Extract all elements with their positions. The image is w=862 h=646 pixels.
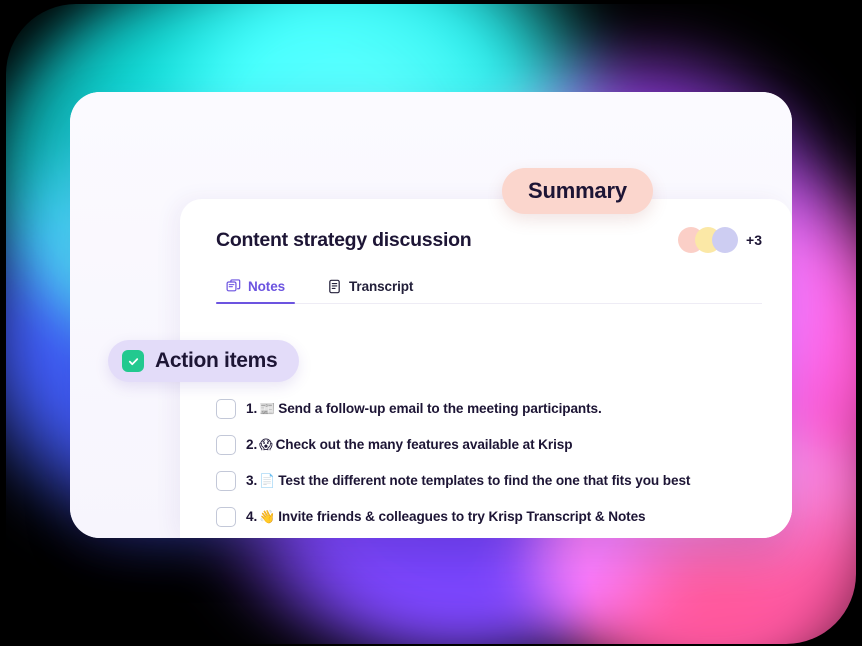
item-label: Check out the many features available at…	[276, 437, 573, 452]
sticky-notes-icon	[226, 279, 241, 294]
page-icon: 📄	[259, 474, 275, 489]
page-title: Content strategy discussion	[216, 229, 471, 252]
item-number: 1.	[246, 401, 257, 416]
list-item[interactable]: 2.😱Check out the many features available…	[216, 427, 776, 463]
tab-bar: Notes Transcript	[216, 277, 762, 304]
item-number: 2.	[246, 437, 257, 452]
screenshot-stage: Content strategy discussion +3	[0, 0, 862, 646]
item-number: 3.	[246, 473, 257, 488]
item-label: Test the different note templates to fin…	[278, 473, 690, 488]
item-label: Send a follow-up email to the meeting pa…	[278, 401, 601, 416]
item-text: 4.👋Invite friends & colleagues to try Kr…	[246, 509, 646, 525]
screaming-face-icon: 😱	[259, 438, 272, 453]
item-checkbox[interactable]	[216, 507, 236, 527]
summary-badge[interactable]: Summary	[502, 168, 653, 214]
tab-transcript[interactable]: Transcript	[317, 277, 423, 303]
meeting-notes-card: Content strategy discussion +3	[70, 92, 792, 538]
action-items-badge-label: Action items	[155, 349, 277, 373]
participants-more-count: +3	[746, 232, 762, 248]
item-checkbox[interactable]	[216, 435, 236, 455]
tab-notes-label: Notes	[248, 279, 285, 294]
item-text: 2.😱Check out the many features available…	[246, 437, 572, 453]
avatar-group[interactable]	[678, 227, 738, 253]
avatar[interactable]	[712, 227, 738, 253]
document-list-icon	[327, 279, 342, 294]
checked-checkbox-icon	[122, 350, 144, 372]
tab-transcript-label: Transcript	[349, 279, 413, 294]
tab-notes[interactable]: Notes	[216, 277, 295, 303]
item-checkbox[interactable]	[216, 399, 236, 419]
action-items-list: 1.📰Send a follow-up email to the meeting…	[216, 391, 776, 535]
list-item[interactable]: 3.📄Test the different note templates to …	[216, 463, 776, 499]
item-text: 3.📄Test the different note templates to …	[246, 473, 690, 489]
item-label: Invite friends & colleagues to try Krisp…	[278, 509, 645, 524]
summary-badge-label: Summary	[528, 178, 627, 204]
item-checkbox[interactable]	[216, 471, 236, 491]
participants[interactable]: +3	[678, 227, 762, 253]
waving-hand-icon: 👋	[259, 510, 275, 525]
action-items-badge[interactable]: Action items	[108, 340, 299, 382]
note-header: Content strategy discussion +3	[216, 227, 762, 253]
list-item[interactable]: 4.👋Invite friends & colleagues to try Kr…	[216, 499, 776, 535]
item-number: 4.	[246, 509, 257, 524]
list-item[interactable]: 1.📰Send a follow-up email to the meeting…	[216, 391, 776, 427]
item-text: 1.📰Send a follow-up email to the meeting…	[246, 401, 602, 417]
newspaper-icon: 📰	[259, 402, 275, 417]
